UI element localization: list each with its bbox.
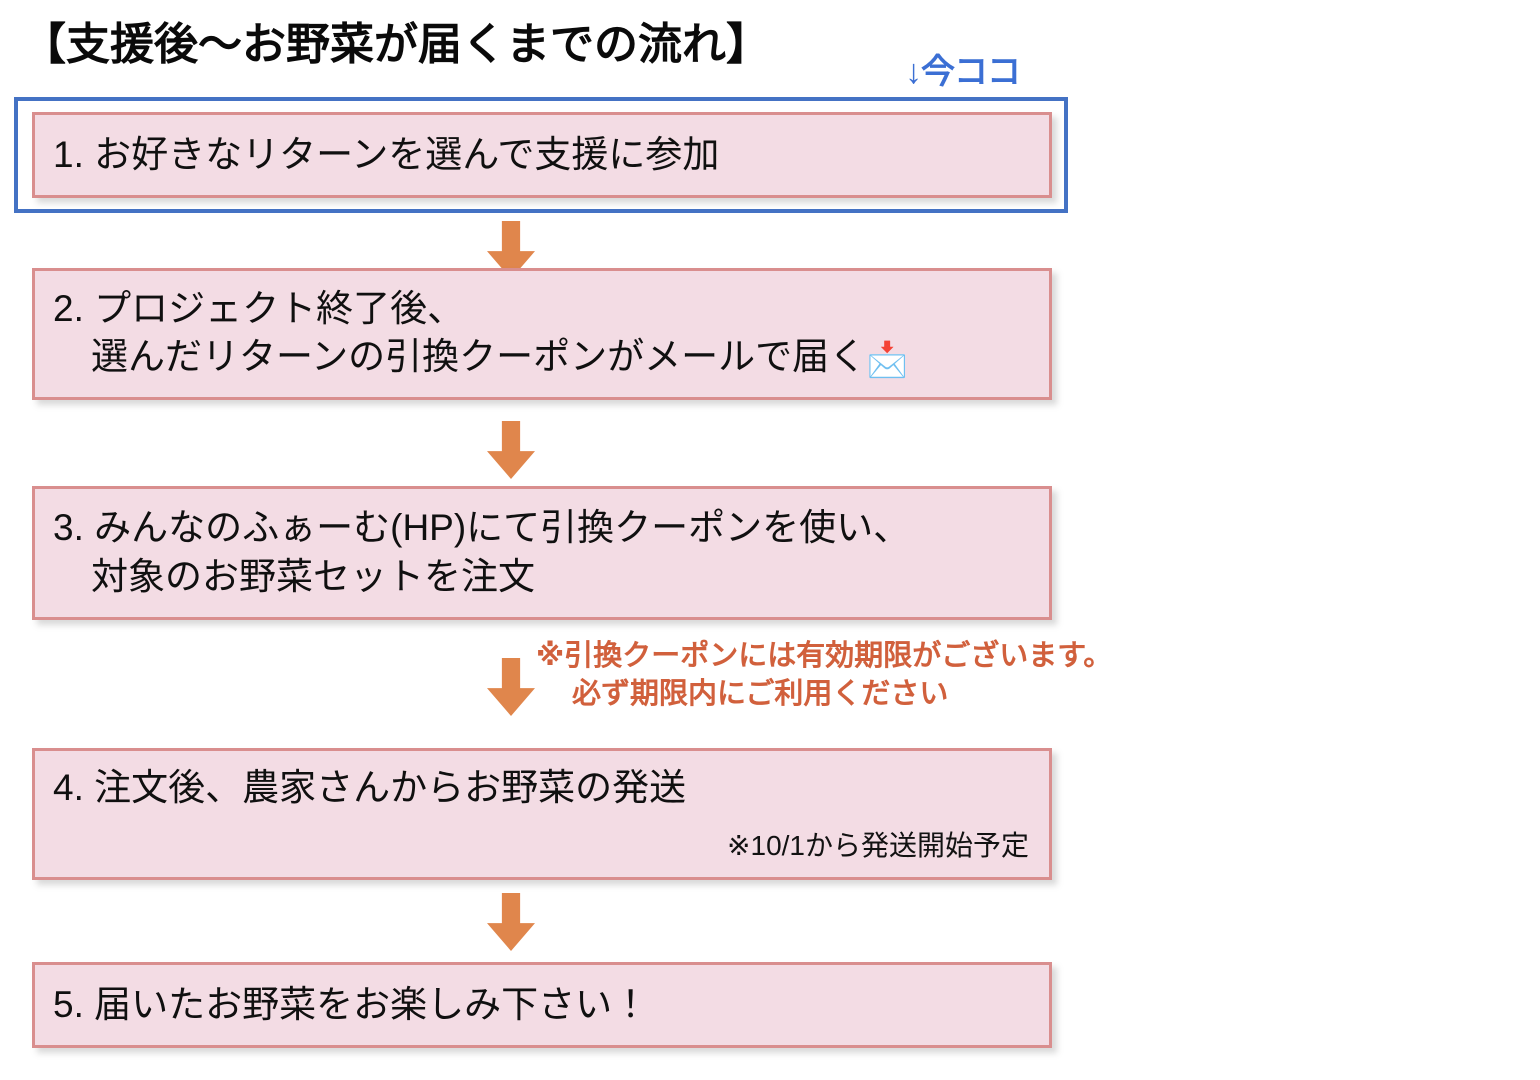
flow-step-5-text: 5. 届いたお野菜をお楽しみ下さい！ bbox=[35, 981, 1049, 1030]
flow-step-2-line-2: 選んだリターンの引換クーポンがメールで届く bbox=[91, 336, 866, 377]
flow-step-5: 5. 届いたお野菜をお楽しみ下さい！ bbox=[32, 962, 1052, 1048]
flow-step-4: 4. 注文後、農家さんからお野菜の発送 ※10/1から発送開始予定 bbox=[32, 748, 1052, 880]
arrow-down-icon bbox=[487, 658, 535, 716]
flow-step-3-line-1: 3. みんなのふぁーむ(HP)にて引換クーポンを使い、 bbox=[53, 507, 910, 548]
flow-step-2-line-2-wrap: 選んだリターンの引換クーポンがメールで届く📩 bbox=[53, 333, 1049, 383]
arrow-down-icon bbox=[487, 893, 535, 951]
flow-step-1: 1. お好きなリターンを選んで支援に参加 bbox=[32, 112, 1052, 198]
flow-step-3: 3. みんなのふぁーむ(HP)にて引換クーポンを使い、 対象のお野菜セットを注文 bbox=[32, 486, 1052, 620]
page-title: 【支援後～お野菜が届くまでの流れ】 bbox=[22, 8, 770, 72]
flow-step-3-text: 3. みんなのふぁーむ(HP)にて引換クーポンを使い、 対象のお野菜セットを注文 bbox=[35, 504, 1049, 602]
now-here-callout: ↓今ココ bbox=[905, 44, 1020, 93]
coupon-expiry-warning-line-2: 必ず期限内にご利用ください bbox=[536, 675, 1112, 713]
flow-step-2: 2. プロジェクト終了後、 選んだリターンの引換クーポンがメールで届く📩 bbox=[32, 268, 1052, 400]
flow-step-2-text: 2. プロジェクト終了後、 選んだリターンの引換クーポンがメールで届く📩 bbox=[35, 285, 1049, 384]
flow-step-4-text: 4. 注文後、農家さんからお野菜の発送 bbox=[35, 764, 1049, 813]
flow-step-3-line-2: 対象のお野菜セットを注文 bbox=[53, 553, 1049, 602]
flow-step-1-text: 1. お好きなリターンを選んで支援に参加 bbox=[35, 131, 1049, 180]
coupon-expiry-warning: ※引換クーポンには有効期限がございます。 必ず期限内にご利用ください bbox=[536, 637, 1112, 714]
flow-step-4-shipping-note: ※10/1から発送開始予定 bbox=[35, 824, 1049, 864]
coupon-expiry-warning-line-1: ※引換クーポンには有効期限がございます。 bbox=[536, 640, 1112, 672]
arrow-down-icon bbox=[487, 421, 535, 479]
incoming-envelope-icon: 📩 bbox=[866, 341, 908, 379]
flow-step-2-line-1: 2. プロジェクト終了後、 bbox=[53, 288, 464, 329]
